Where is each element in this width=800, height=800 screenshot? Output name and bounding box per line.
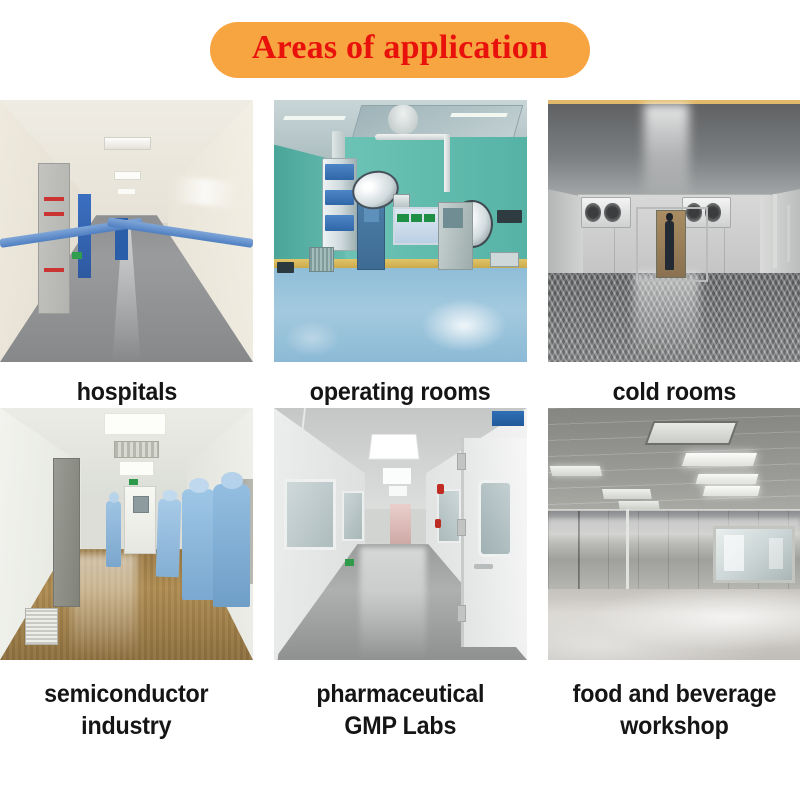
worker-head: [666, 213, 672, 221]
ceiling-light-near: [104, 137, 152, 150]
ceiling-light-6: [618, 501, 659, 509]
pharma-gmp-corridor-illustration: [274, 408, 527, 660]
wall-pipe-right: [773, 194, 777, 267]
floor-reflection: [360, 547, 426, 660]
photo-operating-rooms: [274, 100, 527, 362]
wall-pipe-far-right: [787, 205, 790, 263]
lamp-arm-horizontal: [375, 134, 446, 140]
exit-sign-icon: [129, 479, 138, 485]
ceiling-light-strip-left: [283, 116, 345, 120]
application-card-food-and-beverage-workshop[interactable]: food and beverage workshop: [548, 408, 800, 742]
wall-vent: [25, 608, 57, 645]
caption-line-1: pharmaceutical: [317, 680, 485, 708]
ceiling-light-4: [549, 466, 602, 476]
floor-reflection: [634, 273, 700, 362]
ceiling-light-1: [682, 453, 757, 466]
emergency-button-upper: [437, 484, 444, 494]
caption-line-1: food and beverage: [572, 680, 776, 708]
panel-display-3: [424, 214, 435, 221]
worker-figure-4: [213, 484, 251, 607]
food-beverage-workshop-illustration: [548, 408, 800, 660]
floor-reflection: [548, 589, 800, 660]
evaporator-unit-left: [581, 197, 631, 228]
application-card-pharmaceutical-gmp-labs[interactable]: pharmaceutical GMP Labs: [274, 408, 527, 742]
ceiling-light-near: [104, 413, 167, 435]
hospital-corridor-illustration: [0, 100, 253, 362]
page-title: Areas of application: [252, 29, 548, 66]
window-glare-left: [724, 535, 744, 570]
operating-room-illustration: [274, 100, 527, 362]
worker-hood-2: [162, 489, 177, 501]
worker-figure-2: [156, 498, 181, 577]
door-sign-upper: [44, 197, 63, 201]
floor-reflection-left: [284, 320, 340, 357]
exit-sign-icon: [72, 252, 82, 259]
pendant-drawer-3: [325, 215, 354, 231]
window-glare-right: [769, 538, 783, 569]
title-pill: Areas of application: [210, 22, 590, 77]
ceiling-light-5: [603, 489, 653, 499]
worker-figure-3: [182, 489, 215, 600]
ceiling-light-2: [695, 474, 758, 484]
photo-food-and-beverage-workshop: [548, 408, 800, 660]
photo-hospitals: [0, 100, 253, 362]
floor-reflection: [71, 554, 137, 660]
photo-pharmaceutical-gmp-labs: [274, 408, 527, 660]
evaporator-fan-2: [604, 203, 620, 221]
caption-hospitals: hospitals: [76, 362, 176, 408]
ceiling-air-grille: [114, 441, 159, 458]
wall-corner-left: [578, 511, 580, 592]
photo-cold-rooms: [548, 100, 800, 362]
door-window: [133, 496, 148, 512]
worker-hood-4: [221, 472, 243, 488]
ceiling-light-mid: [114, 171, 141, 180]
door-sign-mid: [44, 212, 63, 216]
control-panel: [393, 207, 440, 245]
caption-line-2: workshop: [620, 712, 728, 740]
caption-pharmaceutical-gmp-labs: pharmaceutical GMP Labs: [317, 660, 485, 742]
observation-window: [713, 526, 795, 582]
wall-switch-right-lower: [490, 252, 520, 267]
application-card-cold-rooms[interactable]: cold rooms: [548, 100, 800, 408]
cleanroom-window-left-far: [342, 491, 364, 540]
cleanroom-door-far: [124, 486, 156, 554]
panel-display-2: [411, 214, 422, 221]
wall-corner-center: [626, 509, 629, 595]
cleanroom-window-left: [284, 479, 336, 551]
pendant-drawer-2: [325, 190, 354, 206]
door-hinge-bottom: [457, 605, 466, 622]
ceiling-hepa-panel: [644, 421, 737, 445]
worker-hood-1: [109, 492, 120, 502]
cleanroom-door-left: [53, 458, 80, 606]
page-header: Areas of application: [0, 0, 800, 100]
door-sign-lower: [44, 268, 63, 272]
wall-switch-left: [277, 262, 295, 272]
cleanroom-door-right: [461, 438, 527, 647]
application-grid-row-2: semiconductor industry: [0, 408, 800, 742]
application-card-semiconductor-industry[interactable]: semiconductor industry: [0, 408, 253, 742]
supply-cabinet: [438, 202, 473, 270]
semiconductor-cleanroom-illustration: [0, 408, 253, 660]
caption-line-2: GMP Labs: [345, 712, 457, 740]
evaporator-fan-1: [585, 203, 601, 221]
caption-line-2: industry: [81, 712, 171, 740]
lamp-arm-vertical: [444, 134, 450, 192]
exit-sign-icon: [345, 559, 354, 566]
application-card-hospitals[interactable]: hospitals: [0, 100, 253, 408]
ceiling-light-mid: [383, 468, 411, 483]
application-card-operating-rooms[interactable]: operating rooms: [274, 100, 527, 408]
ceiling-light-reflection: [644, 104, 689, 193]
floor-reflection-right: [421, 299, 507, 351]
worker-figure-1: [106, 501, 121, 567]
wall-switch-right-upper: [497, 210, 522, 223]
caption-operating-rooms: operating rooms: [310, 362, 491, 408]
worker-hood-3: [189, 478, 209, 494]
worker-figure: [665, 221, 674, 271]
ceiling-light-far: [389, 486, 407, 496]
wall-signage: [492, 411, 525, 426]
door-hinge-middle: [457, 519, 466, 536]
medical-pendant: [322, 158, 357, 252]
ceiling-light-strip-right: [450, 113, 507, 117]
photo-semiconductor-industry: [0, 408, 253, 660]
pendant-drawer-1: [325, 164, 354, 180]
door-hinge-top: [457, 453, 466, 470]
lamp-ceiling-mount: [388, 105, 418, 134]
ceiling-light-near: [368, 434, 419, 459]
cold-room-illustration: [548, 100, 800, 362]
door-window: [478, 480, 513, 557]
ceiling-light-far: [118, 189, 136, 194]
wall-vent: [309, 247, 334, 273]
application-grid-row-1: hospitals: [0, 100, 800, 408]
panel-display-1: [397, 214, 408, 221]
corridor-vanishing-point: [390, 504, 410, 544]
cabinet-glass: [443, 208, 463, 228]
ceiling-light-3: [703, 486, 761, 496]
emergency-button-lower: [435, 519, 441, 528]
ceiling-light-far: [119, 461, 154, 476]
caption-cold-rooms: cold rooms: [612, 362, 735, 408]
corridor-door-blue: [78, 194, 91, 278]
caption-line-1: semiconductor: [44, 680, 208, 708]
caption-semiconductor-industry: semiconductor industry: [44, 660, 208, 742]
caption-food-and-beverage-workshop: food and beverage workshop: [572, 660, 776, 742]
door-handle: [474, 564, 493, 569]
